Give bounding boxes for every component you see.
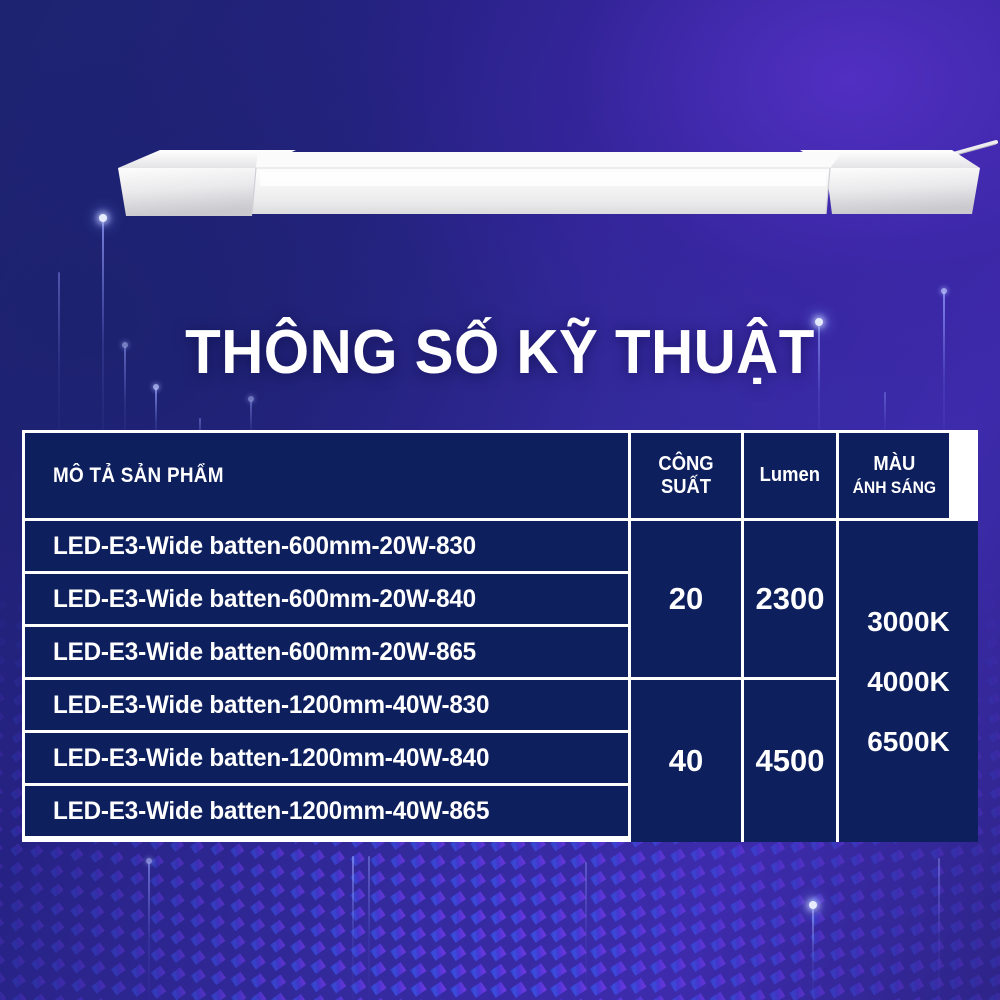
header-cell-description: MÔ TẢ SẢN PHẨM — [25, 433, 628, 518]
product-name: LED-E3-Wide batten-1200mm-40W-865 — [53, 797, 489, 826]
product-name: LED-E3-Wide batten-1200mm-40W-840 — [53, 744, 489, 773]
cell-description: LED-E3-Wide batten-1200mm-40W-840 — [25, 733, 628, 783]
header-label-power: CÔNG SUẤT — [658, 453, 713, 498]
header-label-color: MÀU ÁNH SÁNG — [852, 453, 935, 498]
cell-description: LED-E3-Wide batten-1200mm-40W-830 — [25, 680, 628, 730]
cell-description: LED-E3-Wide batten-1200mm-40W-865 — [25, 786, 628, 836]
light-streak — [368, 856, 370, 1000]
light-streak — [148, 862, 150, 1000]
color-temp-3000k: 3000K — [867, 606, 950, 638]
cell-description: LED-E3-Wide batten-600mm-20W-840 — [25, 574, 628, 624]
header-cell-color: MÀU ÁNH SÁNG — [839, 433, 949, 518]
header-power-line1: CÔNG — [658, 453, 713, 475]
light-streak — [938, 858, 940, 1000]
product-name: LED-E3-Wide batten-600mm-20W-830 — [53, 532, 476, 561]
product-image — [100, 128, 1000, 238]
merged-cell-power-20w: 20 — [631, 521, 741, 677]
color-temp-6500k: 6500K — [867, 726, 950, 758]
poster-canvas: THÔNG SỐ KỸ THUẬT MÔ TẢ SẢN PHẨM CÔNG SU… — [0, 0, 1000, 1000]
light-streak — [585, 862, 587, 1000]
product-name: LED-E3-Wide batten-600mm-20W-840 — [53, 585, 476, 614]
cell-description: LED-E3-Wide batten-600mm-20W-865 — [25, 627, 628, 677]
table-header-row: MÔ TẢ SẢN PHẨM CÔNG SUẤT Lumen MÀU ÁNH S… — [25, 433, 975, 518]
header-color-line2: ÁNH SÁNG — [852, 478, 935, 497]
product-name: LED-E3-Wide batten-1200mm-40W-830 — [53, 691, 489, 720]
header-cell-power: CÔNG SUẤT — [631, 433, 741, 518]
header-color-line1: MÀU — [873, 453, 915, 475]
header-power-line2: SUẤT — [661, 476, 711, 498]
light-streak — [352, 856, 354, 1000]
spec-table: MÔ TẢ SẢN PHẨM CÔNG SUẤT Lumen MÀU ÁNH S… — [22, 430, 978, 842]
header-label-description: MÔ TẢ SẢN PHẨM — [53, 464, 224, 488]
light-streak — [812, 905, 814, 1000]
product-name: LED-E3-Wide batten-600mm-20W-865 — [53, 638, 476, 667]
merged-cell-color-temperatures: 3000K 4000K 6500K — [839, 521, 978, 842]
color-temp-4000k: 4000K — [867, 666, 950, 698]
page-title: THÔNG SỐ KỸ THUẬT — [30, 322, 970, 384]
header-label-lumen: Lumen — [760, 464, 820, 487]
cell-description: LED-E3-Wide batten-600mm-20W-830 — [25, 521, 628, 571]
header-cell-lumen: Lumen — [744, 433, 836, 518]
merged-cell-lumen-2300: 2300 — [744, 521, 836, 677]
merged-cell-lumen-4500: 4500 — [744, 680, 836, 842]
merged-cell-power-40w: 40 — [631, 680, 741, 842]
